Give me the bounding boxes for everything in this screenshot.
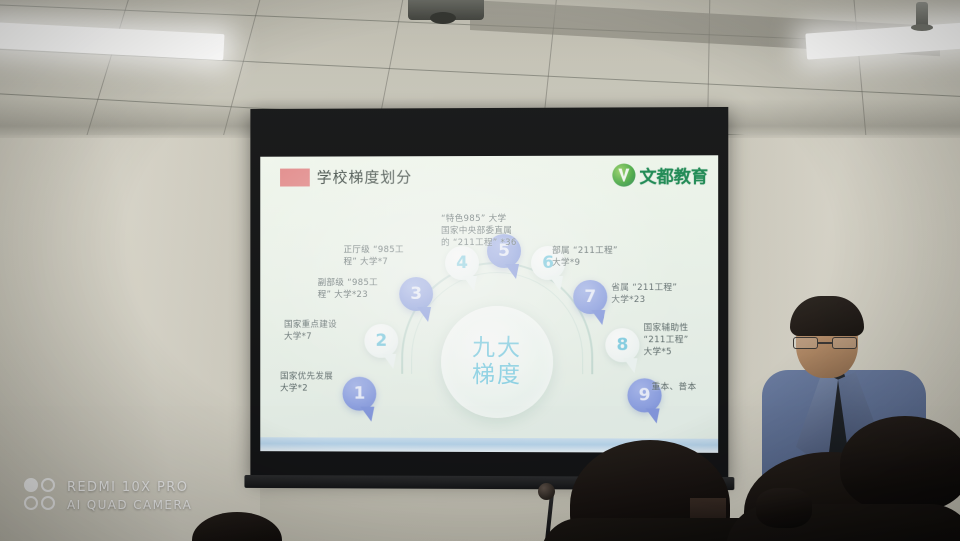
tier-label-6: 部属 “211工程” 大学*9 xyxy=(552,245,618,270)
tier-bubble-2[interactable]: 2 xyxy=(364,324,398,358)
watermark-line-1: REDMI 10X PRO xyxy=(67,479,192,497)
presenter-glasses xyxy=(793,337,859,349)
ceiling-sprinkler xyxy=(916,2,928,28)
presentation-slide: 学校梯度划分 文都教育 九大 梯度 1 2 3 4 5 6 7 8 9 xyxy=(260,155,718,453)
camera-watermark: REDMI 10X PRO AI QUAD CAMERA xyxy=(24,478,192,514)
tier-bubble-1-number: 1 xyxy=(354,384,366,404)
center-line-2: 梯度 xyxy=(472,362,522,389)
brand-logo: 文都教育 xyxy=(612,162,708,187)
tier-label-4: 正厅级 “985工 程” 大学*7 xyxy=(344,244,404,268)
presenter-hair xyxy=(790,296,864,336)
watermark-line-2: AI QUAD CAMERA xyxy=(67,497,192,513)
tier-label-5: “特色985” 大学 国家中央部委直属 的 “211工程” *36 xyxy=(441,213,517,250)
tier-label-8: 国家辅助性 “211工程” 大学*5 xyxy=(644,322,689,359)
tier-bubble-8-number: 8 xyxy=(616,335,628,355)
tier-bubble-4-number: 4 xyxy=(456,253,468,273)
tier-bubble-8[interactable]: 8 xyxy=(605,328,639,362)
ceiling-projector xyxy=(408,0,484,20)
photo-screenshot: 学校梯度划分 文都教育 九大 梯度 1 2 3 4 5 6 7 8 9 xyxy=(0,0,960,541)
projection-screen: 学校梯度划分 文都教育 九大 梯度 1 2 3 4 5 6 7 8 9 xyxy=(250,107,728,481)
brand-logo-text: 文都教育 xyxy=(639,162,708,187)
tier-label-2: 国家重点建设 大学*7 xyxy=(284,319,337,343)
center-line-1: 九大 xyxy=(472,335,522,362)
center-circle: 九大 梯度 xyxy=(441,306,553,418)
projector-lens xyxy=(430,12,456,24)
tier-bubble-2-number: 2 xyxy=(375,331,387,351)
tier-label-3: 副部级 “985工 程” 大学*23 xyxy=(318,277,378,301)
camera-watermark-text: REDMI 10X PRO AI QUAD CAMERA xyxy=(67,479,192,513)
microphone-head xyxy=(538,483,555,500)
tier-label-7: 省属 “211工程” 大学*23 xyxy=(611,282,677,307)
audience-head-right-rear xyxy=(840,416,960,512)
tier-bubble-7[interactable]: 7 xyxy=(573,280,607,314)
tier-bubble-3-number: 3 xyxy=(410,284,422,304)
quad-camera-icon xyxy=(24,478,58,514)
tier-bubble-1[interactable]: 1 xyxy=(343,377,377,411)
title-accent-block xyxy=(280,169,310,187)
tier-label-9: 重本、普本 xyxy=(652,381,697,393)
tier-bubble-3[interactable]: 3 xyxy=(399,277,433,311)
tier-bubble-7-number: 7 xyxy=(584,287,596,307)
tier-bubble-9-number: 9 xyxy=(639,385,651,405)
wendu-leaf-badge-icon xyxy=(612,164,635,187)
tier-bubble-4[interactable]: 4 xyxy=(445,246,479,280)
slide-title: 学校梯度划分 xyxy=(317,166,412,187)
tier-label-1: 国家优先发展 大学*2 xyxy=(280,371,333,395)
audience-glasses-person xyxy=(756,488,812,528)
